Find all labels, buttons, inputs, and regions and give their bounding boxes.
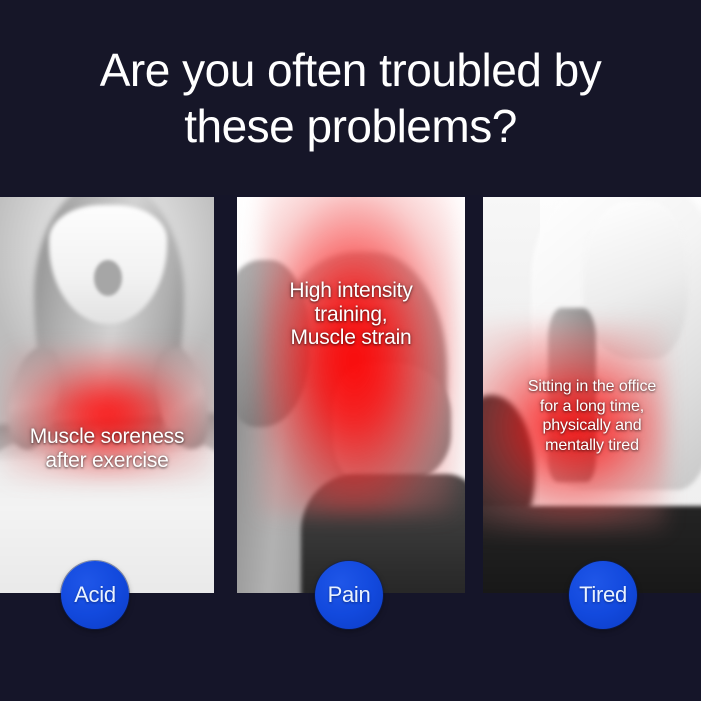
badge-pain-label: Pain — [328, 582, 371, 608]
panel-3-caption: Sitting in the office for a long time, p… — [483, 377, 701, 455]
badge-acid: Acid — [61, 561, 129, 629]
panel-2-photo — [237, 197, 465, 593]
panel-2-caption: High intensity training, Muscle strain — [237, 279, 465, 350]
panel-2-fingers-shape — [333, 363, 452, 482]
problem-panel-pain: High intensity training, Muscle strain — [237, 197, 465, 593]
panel-1-bra-cutout-shape — [94, 260, 122, 296]
panel-1-caption: Muscle soreness after exercise — [0, 425, 214, 472]
poster-root: Are you often troubled by these problems… — [0, 0, 701, 701]
badge-tired: Tired — [569, 561, 637, 629]
badge-acid-label: Acid — [74, 582, 116, 608]
badge-pain: Pain — [315, 561, 383, 629]
header-banner: Are you often troubled by these problems… — [0, 0, 701, 195]
problem-panel-acid: Muscle soreness after exercise — [0, 197, 214, 593]
headline-line-2: these problems? — [184, 98, 517, 154]
panel-3-arm-shape — [583, 201, 688, 359]
badge-tired-label: Tired — [579, 582, 627, 608]
problem-panel-tired: Sitting in the office for a long time, p… — [483, 197, 701, 593]
headline-line-1: Are you often troubled by — [100, 42, 602, 98]
panel-1-photo — [0, 197, 214, 593]
